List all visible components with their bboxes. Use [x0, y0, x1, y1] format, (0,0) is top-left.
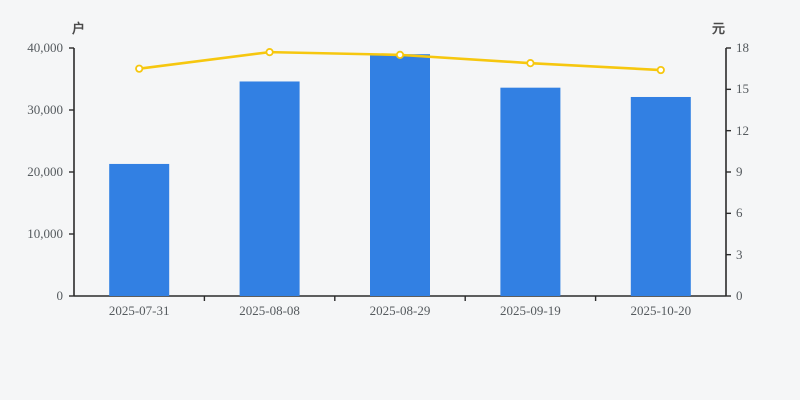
- stock-holder-chart: 户 元 010,00020,00030,00040,000 0369121518…: [0, 0, 800, 400]
- bar: [631, 97, 691, 296]
- chart-plot-area: [0, 0, 800, 400]
- x-axis-tick-label: 2025-08-29: [370, 303, 431, 319]
- right-axis-tick-label: 6: [736, 205, 743, 221]
- bar: [370, 54, 430, 296]
- left-axis-tick-label: 20,000: [0, 164, 63, 180]
- right-axis-tick-label: 15: [736, 81, 749, 97]
- left-axis-tick-label: 0: [0, 288, 63, 304]
- left-axis-tick-label: 30,000: [0, 102, 63, 118]
- x-axis-tick-label: 2025-07-31: [109, 303, 170, 319]
- right-axis-tick-label: 18: [736, 40, 749, 56]
- right-axis-tick-label: 3: [736, 247, 743, 263]
- left-axis-tick-label: 40,000: [0, 40, 63, 56]
- left-axis-tick-label: 10,000: [0, 226, 63, 242]
- line-data-point: [397, 52, 403, 58]
- line-data-point: [266, 49, 272, 55]
- right-axis-tick-label: 0: [736, 288, 743, 304]
- line-data-point: [527, 60, 533, 66]
- x-axis-tick-label: 2025-08-08: [239, 303, 300, 319]
- x-axis-tick-label: 2025-09-19: [500, 303, 561, 319]
- bar: [109, 164, 169, 296]
- bar: [500, 88, 560, 296]
- line-data-point: [136, 65, 142, 71]
- right-axis-tick-label: 12: [736, 123, 749, 139]
- right-axis-tick-label: 9: [736, 164, 743, 180]
- x-axis-tick-label: 2025-10-20: [630, 303, 691, 319]
- bar: [240, 81, 300, 296]
- line-data-point: [658, 67, 664, 73]
